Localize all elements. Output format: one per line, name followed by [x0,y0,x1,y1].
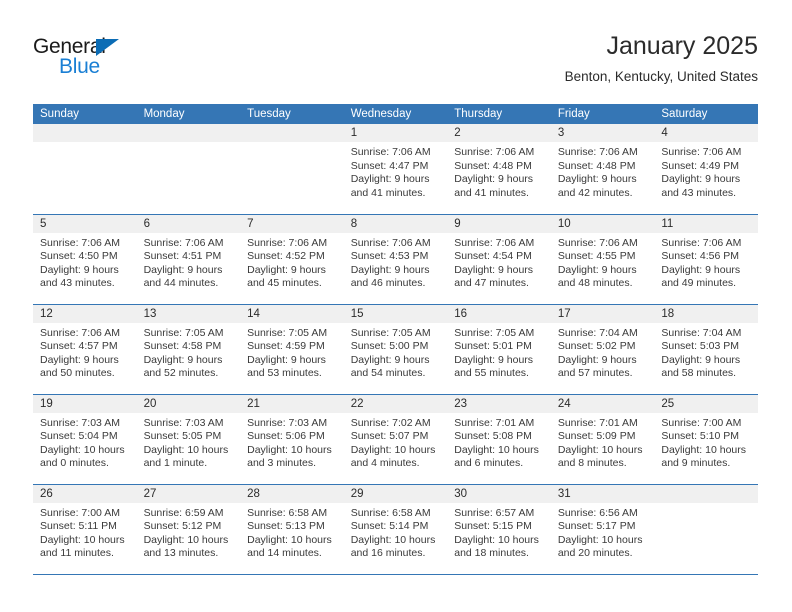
calendar-header-row-group: SundayMondayTuesdayWednesdayThursdayFrid… [33,104,758,124]
day-cell-empty [240,124,344,214]
calendar-body: 1Sunrise: 7:06 AMSunset: 4:47 PMDaylight… [33,124,758,574]
sunset-text: Sunset: 5:12 PM [144,520,235,534]
daylight-text-line1: Daylight: 10 hours [40,444,131,458]
sunrise-text: Sunrise: 7:06 AM [661,237,752,251]
day-number: 28 [240,485,344,503]
daylight-text-line1: Daylight: 9 hours [144,354,235,368]
daylight-text-line2: and 13 minutes. [144,547,235,561]
sunset-text: Sunset: 5:15 PM [454,520,545,534]
daylight-text-line1: Daylight: 10 hours [558,534,649,548]
day-cell-1[interactable]: 1Sunrise: 7:06 AMSunset: 4:47 PMDaylight… [344,124,448,214]
daylight-text-line2: and 43 minutes. [40,277,131,291]
day-cell-3[interactable]: 3Sunrise: 7:06 AMSunset: 4:48 PMDaylight… [551,124,655,214]
daylight-text-line2: and 6 minutes. [454,457,545,471]
day-cell-details: Sunrise: 7:06 AMSunset: 4:50 PMDaylight:… [33,233,137,291]
daylight-text-line2: and 20 minutes. [558,547,649,561]
day-cell-7[interactable]: 7Sunrise: 7:06 AMSunset: 4:52 PMDaylight… [240,214,344,304]
daylight-text-line2: and 54 minutes. [351,367,442,381]
sunset-text: Sunset: 5:10 PM [661,430,752,444]
sunset-text: Sunset: 4:54 PM [454,250,545,264]
daylight-text-line1: Daylight: 9 hours [558,173,649,187]
day-number: 23 [447,395,551,413]
day-cell-empty [33,124,137,214]
daylight-text-line2: and 49 minutes. [661,277,752,291]
day-cell-details: Sunrise: 7:01 AMSunset: 5:08 PMDaylight:… [447,413,551,471]
sunset-text: Sunset: 4:49 PM [661,160,752,174]
sunset-text: Sunset: 5:04 PM [40,430,131,444]
day-cell-31[interactable]: 31Sunrise: 6:56 AMSunset: 5:17 PMDayligh… [551,484,655,574]
weekday-header-sunday: Sunday [33,104,137,124]
weekday-header-friday: Friday [551,104,655,124]
day-cell-details [240,142,344,146]
day-cell-empty [137,124,241,214]
day-cell-details: Sunrise: 7:06 AMSunset: 4:57 PMDaylight:… [33,323,137,381]
sunset-text: Sunset: 4:50 PM [40,250,131,264]
sunrise-text: Sunrise: 7:05 AM [454,327,545,341]
day-cell-24[interactable]: 24Sunrise: 7:01 AMSunset: 5:09 PMDayligh… [551,394,655,484]
daylight-text-line1: Daylight: 10 hours [351,444,442,458]
daylight-text-line1: Daylight: 9 hours [454,173,545,187]
sunrise-text: Sunrise: 6:59 AM [144,507,235,521]
day-cell-details: Sunrise: 7:03 AMSunset: 5:06 PMDaylight:… [240,413,344,471]
daylight-text-line1: Daylight: 10 hours [351,534,442,548]
logo-triangle-icon [96,39,119,56]
sunrise-text: Sunrise: 7:06 AM [40,237,131,251]
week-row: 5Sunrise: 7:06 AMSunset: 4:50 PMDaylight… [33,214,758,304]
sunset-text: Sunset: 5:13 PM [247,520,338,534]
daylight-text-line1: Daylight: 10 hours [144,444,235,458]
day-number: 13 [137,305,241,323]
day-cell-6[interactable]: 6Sunrise: 7:06 AMSunset: 4:51 PMDaylight… [137,214,241,304]
day-cell-8[interactable]: 8Sunrise: 7:06 AMSunset: 4:53 PMDaylight… [344,214,448,304]
day-cell-17[interactable]: 17Sunrise: 7:04 AMSunset: 5:02 PMDayligh… [551,304,655,394]
day-number: 12 [33,305,137,323]
sunset-text: Sunset: 5:08 PM [454,430,545,444]
day-cell-25[interactable]: 25Sunrise: 7:00 AMSunset: 5:10 PMDayligh… [654,394,758,484]
day-cell-27[interactable]: 27Sunrise: 6:59 AMSunset: 5:12 PMDayligh… [137,484,241,574]
daylight-text-line1: Daylight: 10 hours [661,444,752,458]
day-cell-details [33,142,137,146]
logo-text-general: General [33,36,106,57]
daylight-text-line1: Daylight: 9 hours [351,264,442,278]
day-cell-details: Sunrise: 6:58 AMSunset: 5:13 PMDaylight:… [240,503,344,561]
daylight-text-line1: Daylight: 9 hours [40,264,131,278]
day-cell-28[interactable]: 28Sunrise: 6:58 AMSunset: 5:13 PMDayligh… [240,484,344,574]
title-block: January 2025 Benton, Kentucky, United St… [565,30,758,87]
sunrise-text: Sunrise: 7:06 AM [558,146,649,160]
day-cell-18[interactable]: 18Sunrise: 7:04 AMSunset: 5:03 PMDayligh… [654,304,758,394]
day-number: 22 [344,395,448,413]
day-cell-details: Sunrise: 7:06 AMSunset: 4:56 PMDaylight:… [654,233,758,291]
daylight-text-line2: and 44 minutes. [144,277,235,291]
daylight-text-line2: and 52 minutes. [144,367,235,381]
day-number: 15 [344,305,448,323]
sunset-text: Sunset: 4:48 PM [454,160,545,174]
day-cell-details: Sunrise: 7:00 AMSunset: 5:11 PMDaylight:… [33,503,137,561]
day-number [33,124,137,142]
daylight-text-line1: Daylight: 9 hours [558,264,649,278]
daylight-text-line1: Daylight: 9 hours [661,354,752,368]
daylight-text-line1: Daylight: 9 hours [454,264,545,278]
day-cell-details: Sunrise: 7:05 AMSunset: 5:01 PMDaylight:… [447,323,551,381]
day-cell-details: Sunrise: 7:06 AMSunset: 4:48 PMDaylight:… [447,142,551,200]
weekday-header-saturday: Saturday [654,104,758,124]
day-number: 7 [240,215,344,233]
daylight-text-line2: and 1 minute. [144,457,235,471]
day-cell-details: Sunrise: 6:59 AMSunset: 5:12 PMDaylight:… [137,503,241,561]
daylight-text-line1: Daylight: 10 hours [40,534,131,548]
sunset-text: Sunset: 5:05 PM [144,430,235,444]
daylight-text-line1: Daylight: 9 hours [558,354,649,368]
sunrise-text: Sunrise: 7:01 AM [558,417,649,431]
day-cell-details: Sunrise: 7:04 AMSunset: 5:03 PMDaylight:… [654,323,758,381]
daylight-text-line1: Daylight: 9 hours [144,264,235,278]
week-row: 19Sunrise: 7:03 AMSunset: 5:04 PMDayligh… [33,394,758,484]
daylight-text-line2: and 18 minutes. [454,547,545,561]
daylight-text-line1: Daylight: 9 hours [247,264,338,278]
day-number: 10 [551,215,655,233]
daylight-text-line2: and 9 minutes. [661,457,752,471]
day-number: 27 [137,485,241,503]
sunset-text: Sunset: 5:02 PM [558,340,649,354]
day-number: 16 [447,305,551,323]
daylight-text-line1: Daylight: 9 hours [351,354,442,368]
sunset-text: Sunset: 5:01 PM [454,340,545,354]
daylight-text-line2: and 41 minutes. [351,187,442,201]
sunset-text: Sunset: 4:53 PM [351,250,442,264]
day-number: 18 [654,305,758,323]
weekday-header-monday: Monday [137,104,241,124]
sunrise-text: Sunrise: 7:02 AM [351,417,442,431]
day-cell-details: Sunrise: 7:04 AMSunset: 5:02 PMDaylight:… [551,323,655,381]
sunrise-text: Sunrise: 7:03 AM [40,417,131,431]
daylight-text-line2: and 11 minutes. [40,547,131,561]
daylight-text-line1: Daylight: 10 hours [247,444,338,458]
daylight-text-line2: and 58 minutes. [661,367,752,381]
sunrise-text: Sunrise: 7:04 AM [661,327,752,341]
daylight-text-line2: and 46 minutes. [351,277,442,291]
day-number: 1 [344,124,448,142]
week-row: 26Sunrise: 7:00 AMSunset: 5:11 PMDayligh… [33,484,758,574]
sunrise-text: Sunrise: 7:03 AM [144,417,235,431]
day-cell-details: Sunrise: 7:06 AMSunset: 4:49 PMDaylight:… [654,142,758,200]
logo-text-blue: Blue [59,56,100,77]
sunset-text: Sunset: 5:17 PM [558,520,649,534]
day-cell-5[interactable]: 5Sunrise: 7:06 AMSunset: 4:50 PMDaylight… [33,214,137,304]
day-number: 17 [551,305,655,323]
week-row: 12Sunrise: 7:06 AMSunset: 4:57 PMDayligh… [33,304,758,394]
day-number: 26 [33,485,137,503]
day-cell-22[interactable]: 22Sunrise: 7:02 AMSunset: 5:07 PMDayligh… [344,394,448,484]
daylight-text-line1: Daylight: 9 hours [247,354,338,368]
sunrise-text: Sunrise: 7:06 AM [247,237,338,251]
day-number: 21 [240,395,344,413]
day-number: 3 [551,124,655,142]
sunset-text: Sunset: 4:55 PM [558,250,649,264]
weekday-header-thursday: Thursday [447,104,551,124]
sunset-text: Sunset: 4:56 PM [661,250,752,264]
sunset-text: Sunset: 5:00 PM [351,340,442,354]
day-cell-2[interactable]: 2Sunrise: 7:06 AMSunset: 4:48 PMDaylight… [447,124,551,214]
calendar-page: General Blue January 2025 Benton, Kentuc… [0,0,792,612]
daylight-text-line2: and 42 minutes. [558,187,649,201]
day-number: 20 [137,395,241,413]
daylight-text-line2: and 45 minutes. [247,277,338,291]
day-number: 5 [33,215,137,233]
sunrise-text: Sunrise: 7:06 AM [454,237,545,251]
weekday-header-tuesday: Tuesday [240,104,344,124]
day-cell-13[interactable]: 13Sunrise: 7:05 AMSunset: 4:58 PMDayligh… [137,304,241,394]
day-cell-details: Sunrise: 7:00 AMSunset: 5:10 PMDaylight:… [654,413,758,471]
daylight-text-line1: Daylight: 10 hours [144,534,235,548]
daylight-text-line2: and 53 minutes. [247,367,338,381]
day-number: 24 [551,395,655,413]
sunset-text: Sunset: 5:03 PM [661,340,752,354]
day-cell-details: Sunrise: 7:05 AMSunset: 5:00 PMDaylight:… [344,323,448,381]
day-cell-details [137,142,241,146]
daylight-text-line1: Daylight: 10 hours [247,534,338,548]
page-subtitle-location: Benton, Kentucky, United States [565,67,758,87]
sunset-text: Sunset: 4:58 PM [144,340,235,354]
day-number [240,124,344,142]
day-cell-details: Sunrise: 7:06 AMSunset: 4:52 PMDaylight:… [240,233,344,291]
sunset-text: Sunset: 5:09 PM [558,430,649,444]
sunset-text: Sunset: 4:57 PM [40,340,131,354]
sunset-text: Sunset: 5:14 PM [351,520,442,534]
daylight-text-line1: Daylight: 9 hours [40,354,131,368]
day-number: 29 [344,485,448,503]
sunset-text: Sunset: 4:51 PM [144,250,235,264]
daylight-text-line1: Daylight: 10 hours [558,444,649,458]
sunrise-text: Sunrise: 7:06 AM [454,146,545,160]
day-cell-details: Sunrise: 7:03 AMSunset: 5:05 PMDaylight:… [137,413,241,471]
page-header: General Blue January 2025 Benton, Kentuc… [33,30,758,98]
day-cell-16[interactable]: 16Sunrise: 7:05 AMSunset: 5:01 PMDayligh… [447,304,551,394]
sunrise-text: Sunrise: 6:58 AM [247,507,338,521]
day-cell-19[interactable]: 19Sunrise: 7:03 AMSunset: 5:04 PMDayligh… [33,394,137,484]
daylight-text-line2: and 0 minutes. [40,457,131,471]
sunrise-text: Sunrise: 7:00 AM [40,507,131,521]
daylight-text-line2: and 8 minutes. [558,457,649,471]
sunrise-text: Sunrise: 7:06 AM [661,146,752,160]
sunset-text: Sunset: 4:48 PM [558,160,649,174]
day-cell-details: Sunrise: 7:06 AMSunset: 4:54 PMDaylight:… [447,233,551,291]
day-cell-30[interactable]: 30Sunrise: 6:57 AMSunset: 5:15 PMDayligh… [447,484,551,574]
day-cell-12[interactable]: 12Sunrise: 7:06 AMSunset: 4:57 PMDayligh… [33,304,137,394]
sunset-text: Sunset: 5:06 PM [247,430,338,444]
sunset-text: Sunset: 4:52 PM [247,250,338,264]
day-cell-details: Sunrise: 6:58 AMSunset: 5:14 PMDaylight:… [344,503,448,561]
day-number: 19 [33,395,137,413]
day-number: 30 [447,485,551,503]
day-number [654,485,758,503]
calendar-table: SundayMondayTuesdayWednesdayThursdayFrid… [33,104,758,575]
sunrise-text: Sunrise: 7:05 AM [247,327,338,341]
daylight-text-line2: and 16 minutes. [351,547,442,561]
weekday-header-row: SundayMondayTuesdayWednesdayThursdayFrid… [33,104,758,124]
sunrise-text: Sunrise: 6:58 AM [351,507,442,521]
day-cell-details: Sunrise: 7:06 AMSunset: 4:51 PMDaylight:… [137,233,241,291]
daylight-text-line2: and 3 minutes. [247,457,338,471]
weekday-header-wednesday: Wednesday [344,104,448,124]
calendar-grid: SundayMondayTuesdayWednesdayThursdayFrid… [33,104,758,575]
daylight-text-line2: and 55 minutes. [454,367,545,381]
day-cell-details: Sunrise: 7:02 AMSunset: 5:07 PMDaylight:… [344,413,448,471]
general-blue-logo[interactable]: General Blue [33,36,153,82]
sunrise-text: Sunrise: 7:06 AM [40,327,131,341]
sunrise-text: Sunrise: 6:56 AM [558,507,649,521]
day-cell-details: Sunrise: 7:05 AMSunset: 4:59 PMDaylight:… [240,323,344,381]
day-cell-29[interactable]: 29Sunrise: 6:58 AMSunset: 5:14 PMDayligh… [344,484,448,574]
day-cell-details: Sunrise: 7:06 AMSunset: 4:48 PMDaylight:… [551,142,655,200]
day-cell-9[interactable]: 9Sunrise: 7:06 AMSunset: 4:54 PMDaylight… [447,214,551,304]
day-cell-details: Sunrise: 7:06 AMSunset: 4:47 PMDaylight:… [344,142,448,200]
day-cell-details: Sunrise: 7:03 AMSunset: 5:04 PMDaylight:… [33,413,137,471]
daylight-text-line1: Daylight: 10 hours [454,444,545,458]
sunrise-text: Sunrise: 7:06 AM [351,237,442,251]
sunrise-text: Sunrise: 6:57 AM [454,507,545,521]
day-number: 11 [654,215,758,233]
sunset-text: Sunset: 4:47 PM [351,160,442,174]
day-cell-11[interactable]: 11Sunrise: 7:06 AMSunset: 4:56 PMDayligh… [654,214,758,304]
day-cell-details: Sunrise: 7:05 AMSunset: 4:58 PMDaylight:… [137,323,241,381]
daylight-text-line2: and 48 minutes. [558,277,649,291]
daylight-text-line2: and 43 minutes. [661,187,752,201]
day-number: 31 [551,485,655,503]
day-cell-21[interactable]: 21Sunrise: 7:03 AMSunset: 5:06 PMDayligh… [240,394,344,484]
sunrise-text: Sunrise: 7:06 AM [558,237,649,251]
daylight-text-line1: Daylight: 9 hours [661,264,752,278]
sunset-text: Sunset: 4:59 PM [247,340,338,354]
sunrise-text: Sunrise: 7:03 AM [247,417,338,431]
daylight-text-line2: and 47 minutes. [454,277,545,291]
day-number: 14 [240,305,344,323]
day-cell-20[interactable]: 20Sunrise: 7:03 AMSunset: 5:05 PMDayligh… [137,394,241,484]
sunrise-text: Sunrise: 7:06 AM [351,146,442,160]
sunrise-text: Sunrise: 7:05 AM [144,327,235,341]
day-cell-23[interactable]: 23Sunrise: 7:01 AMSunset: 5:08 PMDayligh… [447,394,551,484]
day-cell-details: Sunrise: 7:01 AMSunset: 5:09 PMDaylight:… [551,413,655,471]
daylight-text-line1: Daylight: 9 hours [661,173,752,187]
daylight-text-line2: and 41 minutes. [454,187,545,201]
daylight-text-line2: and 14 minutes. [247,547,338,561]
daylight-text-line2: and 50 minutes. [40,367,131,381]
daylight-text-line1: Daylight: 9 hours [454,354,545,368]
sunrise-text: Sunrise: 7:01 AM [454,417,545,431]
daylight-text-line1: Daylight: 9 hours [351,173,442,187]
day-number: 25 [654,395,758,413]
page-title: January 2025 [565,30,758,62]
sunset-text: Sunset: 5:07 PM [351,430,442,444]
day-cell-empty [654,484,758,574]
day-cell-details: Sunrise: 6:57 AMSunset: 5:15 PMDaylight:… [447,503,551,561]
sunrise-text: Sunrise: 7:05 AM [351,327,442,341]
day-number: 8 [344,215,448,233]
day-cell-26[interactable]: 26Sunrise: 7:00 AMSunset: 5:11 PMDayligh… [33,484,137,574]
sunrise-text: Sunrise: 7:06 AM [144,237,235,251]
day-cell-4[interactable]: 4Sunrise: 7:06 AMSunset: 4:49 PMDaylight… [654,124,758,214]
day-cell-14[interactable]: 14Sunrise: 7:05 AMSunset: 4:59 PMDayligh… [240,304,344,394]
daylight-text-line2: and 4 minutes. [351,457,442,471]
day-cell-15[interactable]: 15Sunrise: 7:05 AMSunset: 5:00 PMDayligh… [344,304,448,394]
day-cell-details: Sunrise: 7:06 AMSunset: 4:55 PMDaylight:… [551,233,655,291]
day-number [137,124,241,142]
day-cell-details: Sunrise: 6:56 AMSunset: 5:17 PMDaylight:… [551,503,655,561]
day-number: 6 [137,215,241,233]
day-number: 4 [654,124,758,142]
sunset-text: Sunset: 5:11 PM [40,520,131,534]
sunrise-text: Sunrise: 7:04 AM [558,327,649,341]
day-number: 9 [447,215,551,233]
daylight-text-line2: and 57 minutes. [558,367,649,381]
day-cell-details: Sunrise: 7:06 AMSunset: 4:53 PMDaylight:… [344,233,448,291]
week-row: 1Sunrise: 7:06 AMSunset: 4:47 PMDaylight… [33,124,758,214]
sunrise-text: Sunrise: 7:00 AM [661,417,752,431]
day-number: 2 [447,124,551,142]
day-cell-10[interactable]: 10Sunrise: 7:06 AMSunset: 4:55 PMDayligh… [551,214,655,304]
daylight-text-line1: Daylight: 10 hours [454,534,545,548]
day-cell-details [654,503,758,507]
